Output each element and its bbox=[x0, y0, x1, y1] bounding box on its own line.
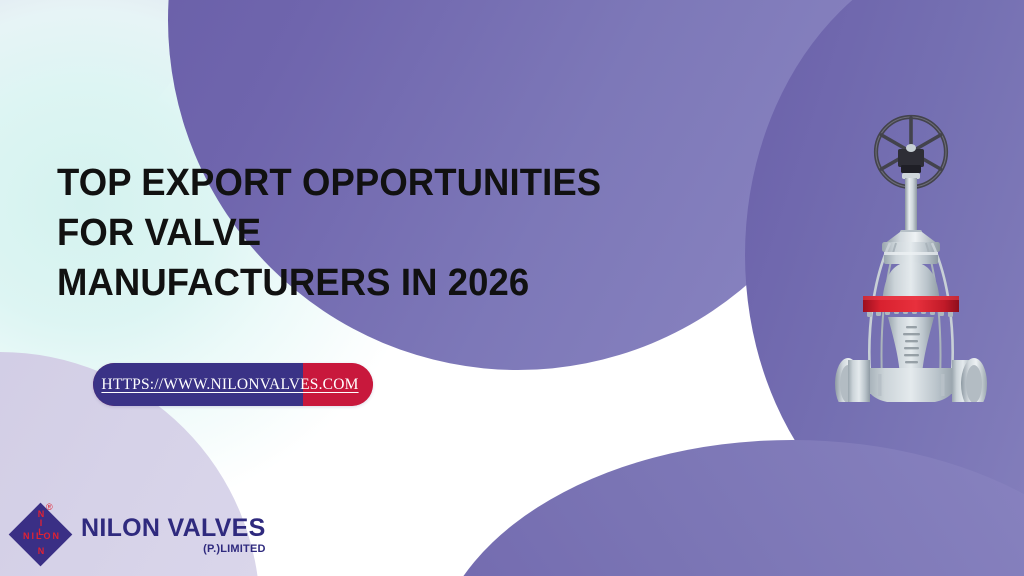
presentation-slide: TOP EXPORT OPPORTUNITIES FOR VALVE MANUF… bbox=[0, 0, 1024, 576]
valve-flange-right bbox=[952, 358, 987, 402]
company-logo: ® NILON N I L O N NILON VALVES (P.)LIMIT… bbox=[10, 504, 266, 566]
company-suffix: (P.)LIMITED bbox=[81, 543, 266, 556]
slide-title-line-1: TOP EXPORT OPPORTUNITIES bbox=[57, 158, 652, 208]
valve-stem bbox=[905, 178, 917, 234]
valve-handwheel-icon bbox=[876, 117, 946, 187]
valve-body-neck bbox=[888, 317, 934, 374]
logo-diamond-letter: L bbox=[38, 528, 44, 537]
website-url-button[interactable]: HTTPS://WWW.NILONVALVES.COM bbox=[93, 363, 373, 406]
background-shape-bottom-right-purple bbox=[432, 440, 1024, 576]
slide-title-line-3: MANUFACTURERS IN 2026 bbox=[57, 258, 652, 308]
valve-flange-left bbox=[835, 358, 870, 402]
logo-diamond-letter: N bbox=[38, 547, 45, 556]
slide-title-line-2: FOR VALVE bbox=[57, 208, 652, 258]
logo-diamond-icon: ® NILON N I L O N bbox=[10, 504, 72, 566]
gate-valve-illustration bbox=[822, 112, 1000, 402]
website-url-label: HTTPS://WWW.NILONVALVES.COM bbox=[93, 376, 373, 394]
company-name: NILON VALVES bbox=[81, 514, 266, 542]
gate-valve-image bbox=[822, 112, 1000, 402]
slide-title: TOP EXPORT OPPORTUNITIES FOR VALVE MANUF… bbox=[57, 158, 652, 308]
logo-wordmark: NILON VALVES (P.)LIMITED bbox=[81, 514, 266, 556]
registered-trademark-icon: ® bbox=[46, 503, 53, 512]
logo-diamond-text-vertical: N I L O N bbox=[37, 510, 44, 556]
